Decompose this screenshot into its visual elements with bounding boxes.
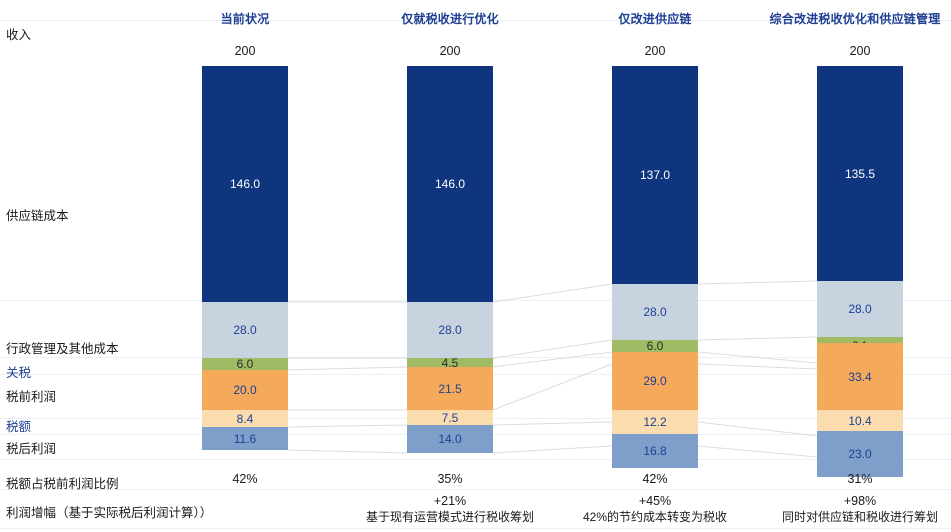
bar-value-label: 14.0	[438, 433, 461, 445]
profit-growth-value-2: +45%	[590, 494, 720, 508]
stacked-column-chart: 当前状况 仅就税收进行优化 仅改进供应链 综合改进税收优化和供应链管理 收入 供…	[0, 0, 951, 532]
bar-segment-supply-chain-cost-3[interactable]: 135.5	[817, 66, 903, 281]
profit-growth-note-2: 42%的节约成本转变为税收	[560, 508, 750, 525]
bar-value-label: 29.0	[643, 375, 666, 387]
bar-segment-pretax-profit-0[interactable]: 20.0	[202, 370, 288, 410]
bar-value-label: 11.6	[234, 433, 256, 445]
row-label-admin-cost: 行政管理及其他成本	[6, 338, 119, 357]
profit-growth-value-3: +98%	[795, 494, 925, 508]
row-label-tax-amount: 税额	[6, 416, 31, 435]
bar-value-label: 28.0	[848, 303, 871, 315]
row-label-tariff: 关税	[6, 362, 31, 381]
bar-segment-aftertax-profit-3[interactable]: 23.0	[817, 431, 903, 477]
row-label-supply-chain-cost: 供应链成本	[6, 205, 69, 224]
bar-segment-tariff-2[interactable]: 6.0	[612, 340, 698, 352]
row-label-revenue: 收入	[6, 24, 31, 43]
bar-value-label: 6.0	[237, 358, 254, 370]
tax-ratio-value-0: 42%	[202, 472, 288, 486]
bar-segment-admin-cost-0[interactable]: 28.0	[202, 302, 288, 358]
bar-segment-pretax-profit-1[interactable]: 21.5	[407, 367, 493, 410]
gridline	[0, 489, 951, 490]
bar-segment-admin-cost-1[interactable]: 28.0	[407, 302, 493, 358]
bar-value-label: 146.0	[435, 178, 465, 190]
gridline	[0, 528, 951, 529]
bar-value-label: 146.0	[230, 178, 260, 190]
bar-segment-admin-cost-2[interactable]: 28.0	[612, 284, 698, 340]
tax-ratio-value-1: 35%	[407, 472, 493, 486]
row-label-pretax-profit: 税前利润	[6, 386, 56, 405]
bar-segment-tariff-1[interactable]: 4.5	[407, 358, 493, 367]
revenue-value-3: 200	[817, 44, 903, 58]
column-header-3: 综合改进税收优化和供应链管理	[760, 10, 950, 27]
bar-value-label: 23.0	[848, 448, 871, 460]
bar-segment-supply-chain-cost-2[interactable]: 137.0	[612, 66, 698, 284]
bar-segment-tax-amount-2[interactable]: 12.2	[612, 410, 698, 434]
bar-value-label: 20.0	[233, 384, 256, 396]
bar-value-label: 135.5	[845, 168, 875, 180]
tax-ratio-value-3: 31%	[817, 472, 903, 486]
column-header-1: 仅就税收进行优化	[370, 10, 530, 27]
gridline	[0, 459, 951, 460]
bar-segment-pretax-profit-3[interactable]: 33.4	[817, 343, 903, 410]
revenue-value-1: 200	[407, 44, 493, 58]
revenue-value-2: 200	[612, 44, 698, 58]
bar-value-label: 12.2	[643, 416, 666, 428]
bar-value-label: 28.0	[643, 306, 666, 318]
bar-segment-tax-amount-0[interactable]: 8.4	[202, 410, 288, 427]
profit-growth-note-1: 基于现有运营模式进行税收筹划	[355, 508, 545, 525]
row-label-profit-growth: 利润增幅（基于实际税后利润计算））	[6, 502, 212, 521]
profit-growth-note-3: 同时对供应链和税收进行筹划	[765, 508, 951, 525]
bar-value-label: 33.4	[848, 371, 871, 383]
bar-segment-aftertax-profit-0[interactable]: 11.6	[202, 427, 288, 450]
tax-ratio-value-2: 42%	[612, 472, 698, 486]
bar-value-label: 8.4	[237, 413, 254, 425]
bar-value-label: 21.5	[438, 383, 461, 395]
bar-segment-tariff-0[interactable]: 6.0	[202, 358, 288, 370]
bar-segment-admin-cost-3[interactable]: 28.0	[817, 281, 903, 337]
bar-segment-aftertax-profit-2[interactable]: 16.8	[612, 434, 698, 468]
bar-value-label: 28.0	[233, 324, 256, 336]
bar-value-label: 10.4	[848, 415, 871, 427]
column-header-0: 当前状况	[165, 10, 325, 27]
row-label-tax-ratio: 税额占税前利润比例	[6, 473, 119, 492]
column-header-2: 仅改进供应链	[575, 10, 735, 27]
revenue-value-0: 200	[202, 44, 288, 58]
bar-value-label: 137.0	[640, 169, 670, 181]
row-label-aftertax-profit: 税后利润	[6, 438, 56, 457]
bar-value-label: 28.0	[438, 324, 461, 336]
bar-segment-tax-amount-3[interactable]: 10.4	[817, 410, 903, 431]
profit-growth-value-1: +21%	[385, 494, 515, 508]
bar-segment-supply-chain-cost-1[interactable]: 146.0	[407, 66, 493, 302]
bar-segment-tax-amount-1[interactable]: 7.5	[407, 410, 493, 425]
bar-segment-aftertax-profit-1[interactable]: 14.0	[407, 425, 493, 453]
bar-segment-supply-chain-cost-0[interactable]: 146.0	[202, 66, 288, 302]
bar-segment-pretax-profit-2[interactable]: 29.0	[612, 352, 698, 410]
bar-value-label: 16.8	[643, 445, 666, 457]
bar-value-label: 6.0	[647, 340, 664, 352]
bar-value-label: 7.5	[442, 412, 459, 424]
